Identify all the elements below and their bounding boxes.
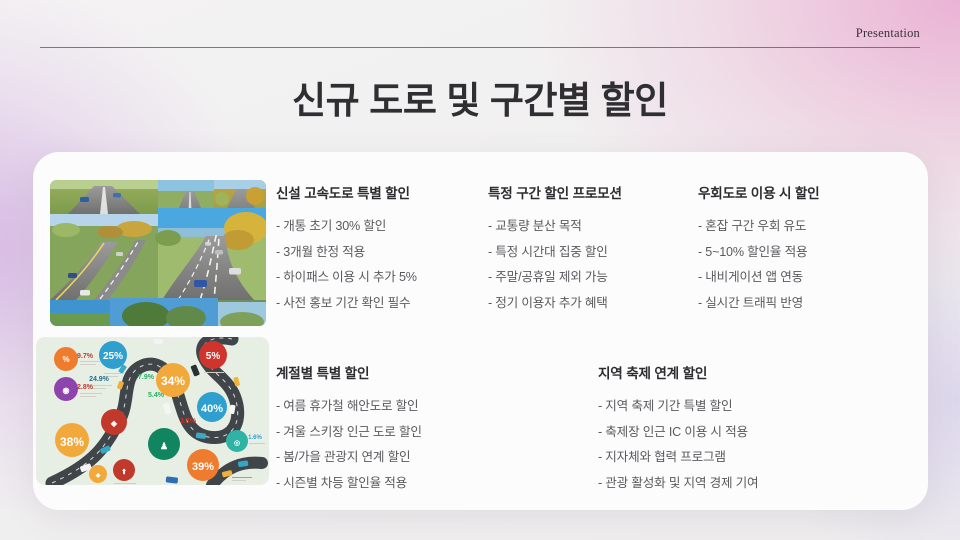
section-seasonal-discount: 계절별 특별 할인 - 여름 휴가철 해안도로 할인 - 겨울 스키장 인근 도… — [276, 362, 422, 502]
infographic-svg: % 9.7% 25% 24.9% ◉ 2.8% 7.9% 5.4% 34% — [36, 337, 269, 485]
svg-text:3.5%: 3.5% — [180, 418, 197, 425]
svg-text:40%: 40% — [201, 403, 223, 415]
list-item: - 지자체와 협력 프로그램 — [598, 451, 758, 464]
list-item: - 하이패스 이용 시 추가 5% — [276, 271, 417, 284]
content-card: % 9.7% 25% 24.9% ◉ 2.8% 7.9% 5.4% 34% — [33, 152, 928, 510]
section-title: 신설 고속도로 특별 할인 — [276, 182, 417, 202]
list-item: - 여름 휴가철 해안도로 할인 — [276, 400, 422, 413]
list-item: - 5~10% 할인율 적용 — [698, 246, 820, 259]
sections-grid: 신설 고속도로 특별 할인 - 개통 초기 30% 할인 - 3개월 한정 적용… — [276, 182, 910, 496]
svg-text:♟: ♟ — [160, 441, 168, 451]
section-list: - 지역 축제 기간 특별 할인 - 축제장 인근 IC 이용 시 적용 - 지… — [598, 400, 758, 489]
svg-text:39%: 39% — [192, 461, 214, 473]
svg-text:◈: ◈ — [110, 419, 118, 428]
svg-text:24.9%: 24.9% — [89, 376, 110, 383]
section-title: 우회도로 이용 시 할인 — [698, 182, 820, 202]
svg-text:1.6%: 1.6% — [248, 435, 262, 441]
page-title: 신규 도로 및 구간별 할인 — [0, 70, 960, 124]
list-item: - 주말/공휴일 제외 가능 — [488, 271, 622, 284]
list-item: - 실시간 트래픽 반영 — [698, 297, 820, 310]
section-list: - 교통량 분산 목적 - 특정 시간대 집중 할인 - 주말/공휴일 제외 가… — [488, 220, 622, 309]
svg-text:7.9%: 7.9% — [138, 374, 155, 381]
section-festival-discount: 지역 축제 연계 할인 - 지역 축제 기간 특별 할인 - 축제장 인근 IC… — [598, 362, 758, 502]
list-item: - 특정 시간대 집중 할인 — [488, 246, 622, 259]
svg-text:38%: 38% — [60, 435, 84, 449]
sections-row-2: 계절별 특별 할인 - 여름 휴가철 해안도로 할인 - 겨울 스키장 인근 도… — [276, 362, 910, 512]
list-item: - 사전 홍보 기간 확인 필수 — [276, 297, 417, 310]
svg-text:◉: ◉ — [63, 386, 70, 395]
svg-text:25%: 25% — [103, 351, 123, 362]
svg-text:⬆: ⬆ — [121, 468, 127, 476]
section-list: - 혼잡 구간 우회 유도 - 5~10% 할인율 적용 - 내비게이션 앱 연… — [698, 220, 820, 309]
section-title: 계절별 특별 할인 — [276, 362, 422, 382]
list-item: - 개통 초기 30% 할인 — [276, 220, 417, 233]
list-item: - 축제장 인근 IC 이용 시 적용 — [598, 426, 758, 439]
list-item: - 지역 축제 기간 특별 할인 — [598, 400, 758, 413]
section-title: 특정 구간 할인 프로모션 — [488, 182, 622, 202]
section-title: 지역 축제 연계 할인 — [598, 362, 758, 382]
svg-text:9.7%: 9.7% — [77, 353, 94, 360]
header-label: Presentation — [856, 26, 920, 41]
section-segment-promotion: 특정 구간 할인 프로모션 - 교통량 분산 목적 - 특정 시간대 집중 할인… — [488, 182, 622, 322]
slide: Presentation 신규 도로 및 구간별 할인 — [0, 0, 960, 540]
collage-svg — [50, 180, 266, 326]
section-list: - 여름 휴가철 해안도로 할인 - 겨울 스키장 인근 도로 할인 - 봄/가… — [276, 400, 422, 489]
list-item: - 정기 이용자 추가 혜택 — [488, 297, 622, 310]
svg-text:2.8%: 2.8% — [77, 384, 94, 391]
highway-photo-collage — [50, 180, 266, 326]
list-item: - 시즌별 차등 할인율 적용 — [276, 477, 422, 490]
list-item: - 교통량 분산 목적 — [488, 220, 622, 233]
section-detour-discount: 우회도로 이용 시 할인 - 혼잡 구간 우회 유도 - 5~10% 할인율 적… — [698, 182, 820, 322]
list-item: - 혼잡 구간 우회 유도 — [698, 220, 820, 233]
list-item: - 관광 활성화 및 지역 경제 기여 — [598, 477, 758, 490]
svg-text:34%: 34% — [161, 374, 185, 388]
svg-text:5%: 5% — [206, 351, 221, 362]
list-item: - 내비게이션 앱 연동 — [698, 271, 820, 284]
section-list: - 개통 초기 30% 할인 - 3개월 한정 적용 - 하이패스 이용 시 추… — [276, 220, 417, 309]
svg-text:◎: ◎ — [234, 440, 240, 447]
header-divider — [40, 47, 920, 48]
svg-text:◆: ◆ — [95, 472, 101, 479]
list-item: - 봄/가을 관광지 연계 할인 — [276, 451, 422, 464]
list-item: - 겨울 스키장 인근 도로 할인 — [276, 426, 422, 439]
list-item: - 3개월 한정 적용 — [276, 246, 417, 259]
sections-row-1: 신설 고속도로 특별 할인 - 개통 초기 30% 할인 - 3개월 한정 적용… — [276, 182, 910, 332]
section-new-highway-discount: 신설 고속도로 특별 할인 - 개통 초기 30% 할인 - 3개월 한정 적용… — [276, 182, 417, 322]
road-statistics-infographic: % 9.7% 25% 24.9% ◉ 2.8% 7.9% 5.4% 34% — [36, 337, 269, 485]
svg-text:%: % — [62, 355, 69, 364]
